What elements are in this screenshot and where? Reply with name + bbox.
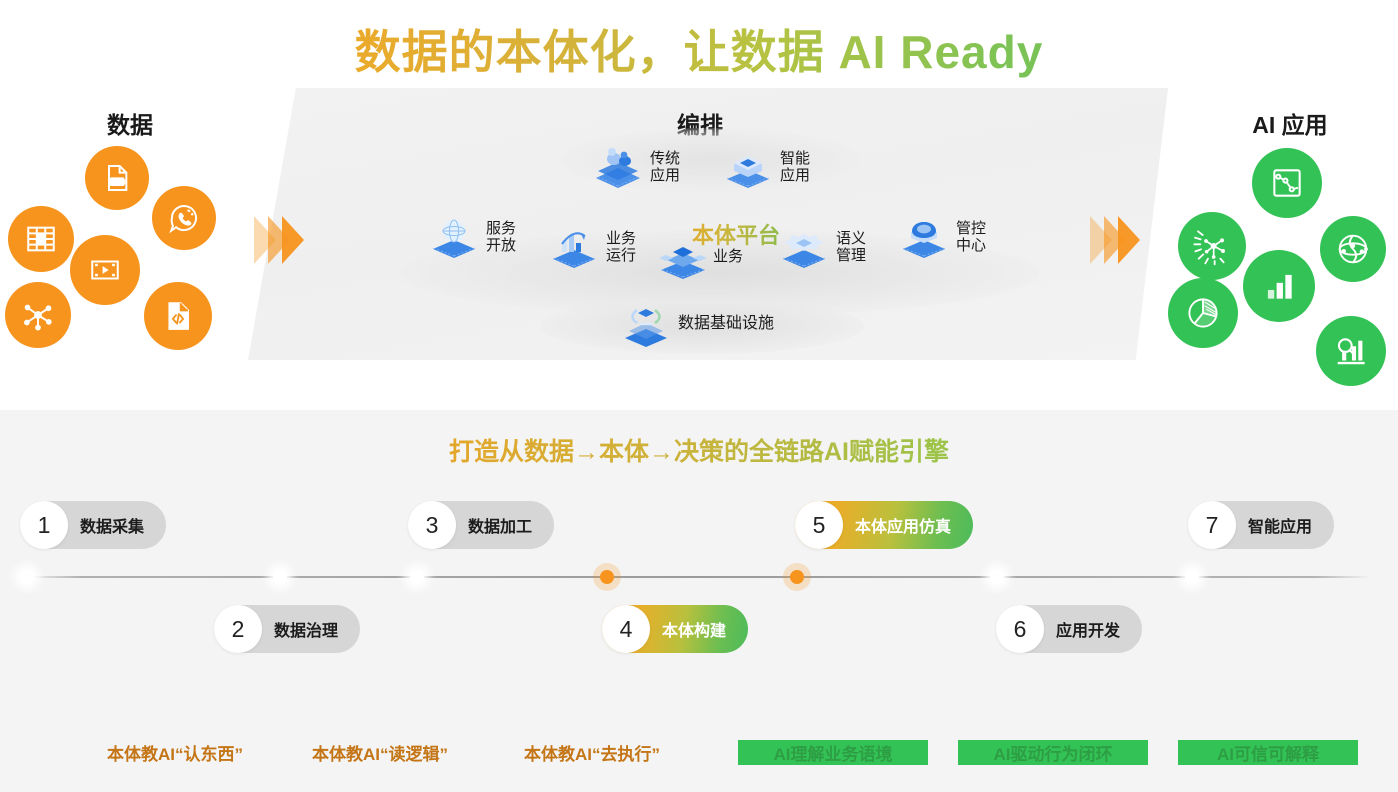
isometric-database-icon: [620, 303, 672, 345]
caption-2: 本体教AI“读逻辑”: [275, 740, 485, 765]
node-data-infrastructure: 数据基础设施: [620, 303, 774, 345]
step-pill-6[interactable]: 6 应用开发: [996, 605, 1142, 653]
node-label: 管控 中心: [956, 220, 986, 255]
flow-arrow-left: [262, 216, 304, 264]
slide-root: 数据的本体化，让数据 AI Ready 数据 编排 AI 应用 DOC: [0, 0, 1398, 792]
line-chart-icon: [1252, 148, 1322, 218]
step-label: 应用开发: [1056, 617, 1120, 641]
pie-chart-icon: [1168, 278, 1238, 348]
chevron-icon: [1118, 216, 1140, 264]
doc-file-icon: DOC: [85, 146, 149, 210]
chevron-icon: [282, 216, 304, 264]
neural-burst-icon: [1178, 212, 1246, 280]
node-label: 服务 开放: [486, 220, 516, 255]
step-number: 1: [20, 501, 68, 549]
globe-network-icon: [1320, 216, 1386, 282]
step-pill-3[interactable]: 3 数据加工: [408, 501, 554, 549]
step-number: 4: [602, 605, 650, 653]
isometric-people-icon: [592, 146, 644, 188]
node-label: 业务 运行: [606, 230, 636, 265]
code-file-icon: [144, 282, 212, 350]
node-service-open: 服务 开放: [428, 216, 516, 258]
caption-6: AI可信可解释: [1178, 740, 1358, 765]
node-label: 业务: [713, 248, 743, 265]
svg-text:DOC: DOC: [109, 180, 124, 187]
network-graph-icon: [5, 282, 71, 348]
step-label: 本体构建: [662, 617, 726, 641]
step-pill-5[interactable]: 5 本体应用仿真: [795, 501, 973, 549]
analytics-search-icon: [1316, 316, 1386, 386]
timeline-dot-2: [273, 570, 287, 584]
timeline-dot-3: [410, 570, 424, 584]
node-business-runtime: 业务 运行: [548, 226, 636, 268]
isometric-gear-icon: [778, 226, 830, 268]
step-label: 本体应用仿真: [855, 513, 951, 537]
caption-3: 本体教AI“去执行”: [487, 740, 697, 765]
video-film-icon: [70, 235, 140, 305]
roadmap-panel: 打造从数据→本体→决策的全链路AI赋能引擎 1 数据采集 3 数据加工 5 本体…: [0, 410, 1398, 792]
voice-call-icon: [152, 186, 216, 250]
page-title: 数据的本体化，让数据 AI Ready: [0, 16, 1398, 82]
timeline-dot-5: [790, 570, 804, 584]
bar-chart-icon: [1243, 250, 1315, 322]
isometric-chart-icon: [548, 226, 600, 268]
column-head-ai: AI 应用: [1190, 106, 1390, 140]
step-label: 智能应用: [1248, 513, 1312, 537]
node-label: 传统 应用: [650, 150, 680, 185]
caption-1: 本体教AI“认东西”: [70, 740, 280, 765]
step-pill-2[interactable]: 2 数据治理: [214, 605, 360, 653]
node-label: 智能 应用: [780, 150, 810, 185]
step-number: 2: [214, 605, 262, 653]
timeline-dot-7: [1185, 570, 1199, 584]
node-label: 数据基础设施: [678, 315, 774, 333]
node-semantic-management: 语义 管理: [778, 226, 866, 268]
spreadsheet-icon: [8, 206, 74, 272]
caption-5: AI驱动行为闭环: [958, 740, 1148, 765]
flow-arrow-right: [1098, 216, 1140, 264]
isometric-cube-icon: [722, 146, 774, 188]
step-pill-4[interactable]: 4 本体构建: [602, 605, 748, 653]
step-number: 7: [1188, 501, 1236, 549]
isometric-globe-icon: [428, 216, 480, 258]
step-pill-1[interactable]: 1 数据采集: [20, 501, 166, 549]
step-number: 5: [795, 501, 843, 549]
isometric-hub-icon: [655, 236, 707, 278]
node-label: 语义 管理: [836, 230, 866, 265]
node-intelligent-app: 智能 应用: [722, 146, 810, 188]
step-number: 3: [408, 501, 456, 549]
step-label: 数据治理: [274, 617, 338, 641]
timeline-dot-4: [600, 570, 614, 584]
node-business: 业务: [655, 236, 743, 278]
isometric-shield-icon: [898, 216, 950, 258]
roadmap-title: 打造从数据→本体→决策的全链路AI赋能引擎: [0, 432, 1398, 468]
timeline-axis: [26, 576, 1370, 578]
column-head-data: 数据: [40, 106, 220, 140]
timeline-dot-6: [990, 570, 1004, 584]
caption-4: AI理解业务语境: [738, 740, 928, 765]
timeline-dot-1: [20, 570, 34, 584]
node-traditional-app: 传统 应用: [592, 146, 680, 188]
step-label: 数据加工: [468, 513, 532, 537]
step-number: 6: [996, 605, 1044, 653]
node-control-center: 管控 中心: [898, 216, 986, 258]
step-pill-7[interactable]: 7 智能应用: [1188, 501, 1334, 549]
top-band: 数据 编排 AI 应用 DOC: [0, 88, 1398, 388]
step-label: 数据采集: [80, 513, 144, 537]
